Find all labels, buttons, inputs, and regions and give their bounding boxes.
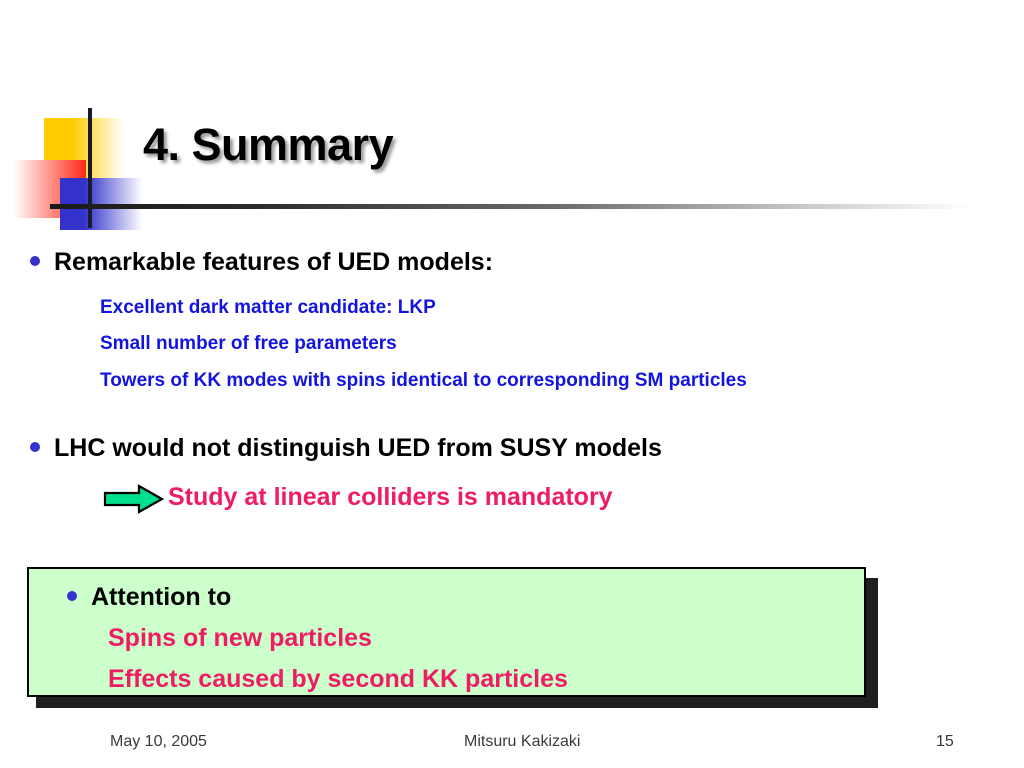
bullet-label: Remarkable features of UED models: [54, 248, 493, 277]
deco-horizontal-rule [50, 204, 970, 209]
deco-blue-square [60, 178, 142, 230]
bullet-item-lhc: LHC would not distinguish UED from SUSY … [30, 434, 662, 463]
callout-line-spins: Spins of new particles [108, 624, 372, 653]
bullet-dot-icon [30, 256, 40, 266]
deco-yellow-square [44, 118, 124, 178]
callout-box: Attention to Spins of new particles Effe… [27, 567, 866, 697]
footer-page-number: 15 [936, 733, 954, 751]
sub-bullet-free-parameters: Small number of free parameters [100, 333, 397, 355]
footer-author: Mitsuru Kakizaki [464, 733, 580, 751]
bullet-dot-icon [67, 591, 77, 601]
mandatory-statement: Study at linear colliders is mandatory [168, 483, 613, 512]
bullet-item-remarkable-features: Remarkable features of UED models: [30, 248, 493, 277]
callout-heading: Attention to [91, 583, 231, 612]
footer-date: May 10, 2005 [110, 733, 207, 751]
callout-heading-row: Attention to [67, 583, 231, 612]
bullet-dot-icon [30, 442, 40, 452]
slide-canvas: 4. Summary Remarkable features of UED mo… [0, 0, 1024, 768]
callout-line-effects: Effects caused by second KK particles [108, 665, 568, 694]
deco-vertical-line [88, 108, 92, 228]
right-block-arrow-icon [103, 484, 165, 514]
page-title: 4. Summary [143, 119, 393, 171]
sub-bullet-kk-towers: Towers of KK modes with spins identical … [100, 370, 747, 392]
bullet-label: LHC would not distinguish UED from SUSY … [54, 434, 662, 463]
sub-bullet-dark-matter: Excellent dark matter candidate: LKP [100, 297, 436, 319]
deco-red-square [14, 160, 86, 218]
